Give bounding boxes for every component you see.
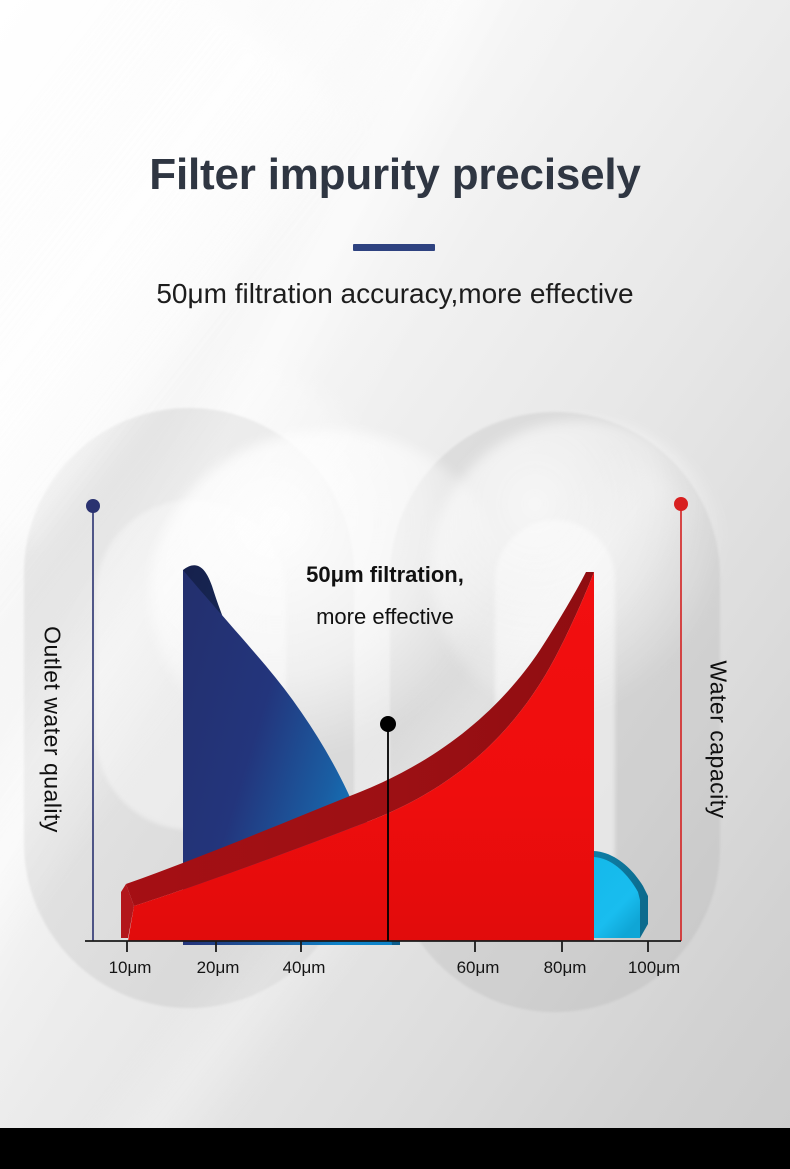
x-tick-label-80um: 80μm <box>525 958 605 978</box>
x-tick-label-60um: 60μm <box>438 958 518 978</box>
series-residual-capacity <box>594 851 648 938</box>
axis-left-endpoint-dot <box>86 499 100 513</box>
axis-left <box>86 499 100 941</box>
chart-callout: 50μm filtration, more effective <box>220 562 550 630</box>
x-tick-label-40um: 40μm <box>264 958 344 978</box>
annotation-marker-dot <box>380 716 396 732</box>
x-tick-label-100um: 100μm <box>614 958 694 978</box>
callout-line-2: more effective <box>220 604 550 630</box>
filtration-chart: Outlet water quality Water capacity 10μm… <box>0 0 790 1128</box>
axis-right-endpoint-dot <box>674 497 688 511</box>
axis-label-outlet-water-quality: Outlet water quality <box>39 580 66 880</box>
callout-line-1: 50μm filtration, <box>220 562 550 588</box>
axis-right <box>674 497 688 941</box>
bottom-black-bar <box>0 1128 790 1169</box>
promo-banner: Filter impurity precisely 50μm filtratio… <box>0 0 790 1169</box>
axis-label-water-capacity: Water capacity <box>705 590 732 890</box>
x-tick-label-10um: 10μm <box>90 958 170 978</box>
x-tick-label-20um: 20μm <box>178 958 258 978</box>
